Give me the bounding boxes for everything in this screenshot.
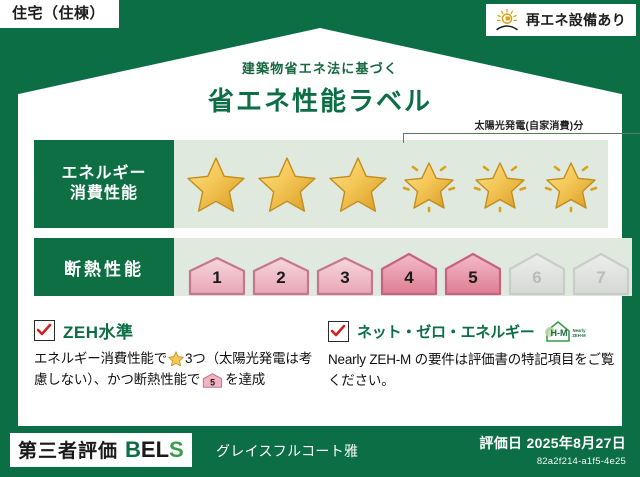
grade-badge-6: 6 (506, 252, 568, 296)
label-title: 省エネ性能ラベル (0, 81, 640, 118)
insulation-performance-row: 断熱性能 1 2 3 (34, 238, 608, 296)
zeh-standard-header: ZEH水準 (34, 318, 322, 343)
energy-row-body: 太陽光発電(自家消費)分 (174, 140, 608, 228)
star-icon (328, 155, 388, 213)
zeh-m-logo-icon: H-M Nearly ZEH-M (543, 318, 587, 344)
grade-badge-7: 7 (570, 252, 632, 296)
svg-text:5: 5 (210, 378, 215, 388)
renewable-badge-label: 再エネ設備あり (526, 10, 626, 30)
star-icon (257, 155, 317, 213)
star-icon (186, 155, 246, 213)
solar-note-label: 太陽光発電(自家消費)分 (474, 121, 583, 132)
energy-header-line2: 消費性能 (70, 184, 138, 204)
grade-label: 4 (404, 269, 413, 293)
insulation-row-body: 1 2 3 4 5 (174, 238, 632, 296)
energy-row-header: エネルギー 消費性能 (34, 140, 174, 228)
zeh-standard-body: エネルギー消費性能で3つ（太陽光発電は考慮しない）、かつ断熱性能で5を達成 (34, 349, 322, 391)
zeh-body-pre: エネルギー消費性能で (34, 351, 167, 366)
bels-letter-l: L (156, 437, 169, 462)
sun-icon (494, 8, 520, 32)
building-name: グレイスフルコート雅 (216, 441, 358, 461)
insulation-grade-scale: 1 2 3 4 5 (174, 238, 632, 296)
checkbox-checked-icon (34, 320, 55, 341)
star-6-solar (535, 140, 606, 228)
footer-meta: 評価日 2025年8月27日 82a2f214-a1f5-4e25 (479, 433, 626, 467)
checkbox-checked-icon (328, 321, 349, 342)
bels-logo: BELS (125, 437, 184, 463)
label-subtitle: 建築物省エネ法に基づく (0, 58, 640, 77)
evaluation-date: 評価日 2025年8月27日 (479, 433, 626, 453)
grade-label: 2 (276, 269, 285, 293)
grade-label: 6 (532, 269, 541, 293)
grade-label: 7 (596, 269, 605, 293)
net-zero-energy-body: Nearly ZEH-M の要件は評価書の特記項目をご覧ください。 (328, 350, 616, 392)
net-zero-energy-header: ネット・ゼロ・エネルギー H-M Nearly ZEH-M (328, 318, 616, 344)
svg-text:ZEH-M: ZEH-M (572, 333, 586, 338)
grade-badge-3: 3 (314, 252, 376, 296)
zeh-body-post: を達成 (225, 372, 265, 387)
evaluation-id: 82a2f214-a1f5-4e25 (479, 456, 626, 467)
grade-label: 1 (212, 269, 221, 293)
svg-text:H-M: H-M (550, 328, 567, 338)
grade-house-icon: 5 (202, 373, 223, 390)
star-4-solar (393, 140, 464, 228)
energy-performance-row: エネルギー 消費性能 太陽光発電(自家消費)分 (34, 140, 608, 228)
star-5-solar (464, 140, 535, 228)
star-icon (399, 155, 459, 213)
energy-performance-label: 住宅（住棟） 再エネ設備あり 建築物省エネ法に基づく (0, 0, 640, 477)
net-zero-energy-title: ネット・ゼロ・エネルギー (357, 321, 535, 342)
grade-label: 5 (468, 269, 477, 293)
building-type-badge: 住宅（住棟） (0, 0, 119, 28)
bels-letter-b: B (125, 437, 141, 462)
title-block: 建築物省エネ法に基づく 省エネ性能ラベル (0, 58, 640, 118)
bels-evaluation-badge: 第三者評価 BELS (10, 433, 192, 467)
grade-badge-1: 1 (186, 252, 248, 296)
star-3 (322, 140, 393, 228)
star-rating (174, 140, 608, 228)
third-party-label: 第三者評価 (18, 436, 118, 463)
zeh-standard-title: ZEH水準 (63, 318, 134, 343)
solar-note: 太陽光発電(自家消費)分 (403, 116, 640, 134)
bels-letter-s: S (169, 437, 184, 462)
grade-badge-5: 5 (442, 252, 504, 296)
renewable-equipment-badge: 再エネ設備あり (486, 4, 636, 36)
grade-label: 3 (340, 269, 349, 293)
solar-bracket (403, 133, 640, 143)
star-2 (251, 140, 322, 228)
star-icon (541, 155, 601, 213)
net-zero-energy-block: ネット・ゼロ・エネルギー H-M Nearly ZEH-M Nearly ZEH… (328, 318, 616, 392)
insulation-row-header: 断熱性能 (34, 238, 174, 296)
energy-header-line1: エネルギー (61, 164, 146, 184)
zeh-standard-block: ZEH水準 エネルギー消費性能で3つ（太陽光発電は考慮しない）、かつ断熱性能で5… (34, 318, 322, 391)
grade-badge-2: 2 (250, 252, 312, 296)
grade-badge-4: 4 (378, 252, 440, 296)
star-icon (470, 155, 530, 213)
star-icon (168, 351, 184, 367)
label-footer: 第三者評価 BELS グレイスフルコート雅 評価日 2025年8月27日 82a… (0, 427, 640, 477)
bels-letter-e: E (141, 437, 156, 462)
star-1 (180, 140, 251, 228)
